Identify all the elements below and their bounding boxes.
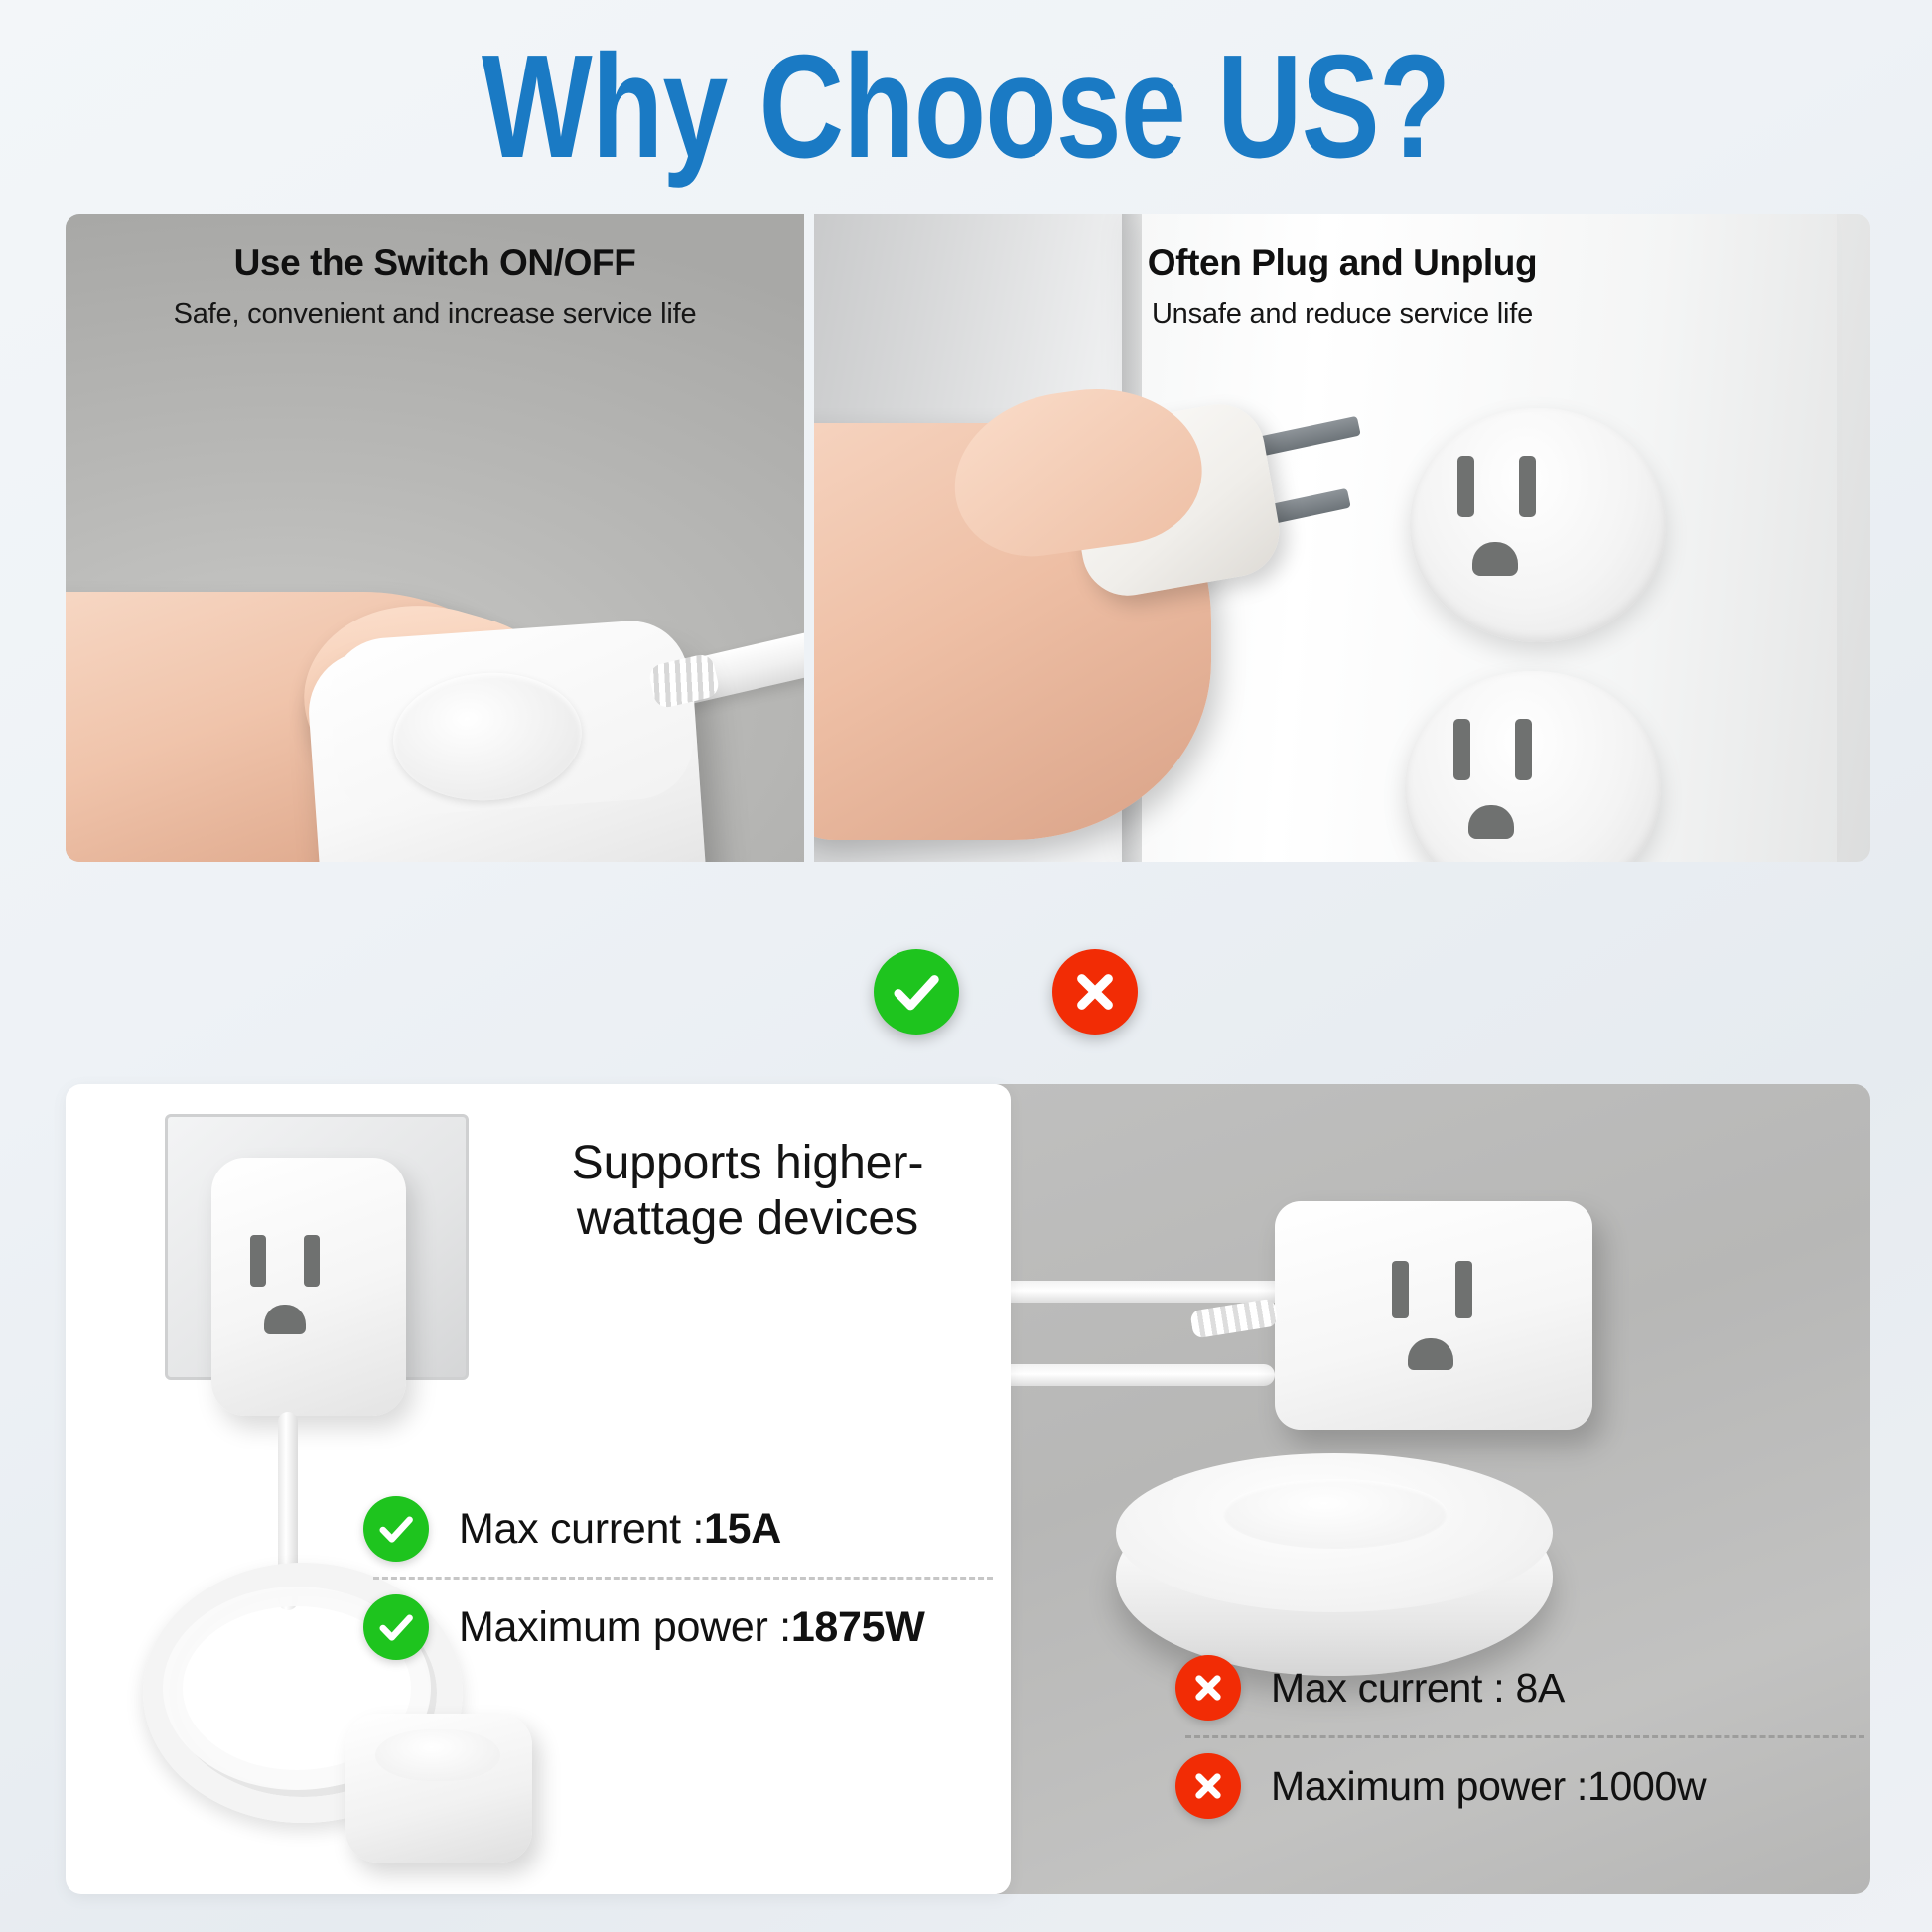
spec-list-left: Max current :15A Maximum power :1875W [363,1481,999,1675]
close-icon [1066,963,1124,1021]
cable-strain-relief-right [1189,1298,1278,1338]
close-icon [1186,1764,1230,1808]
adapter-slot-left [250,1235,266,1287]
infographic-page: Why Choose US? Use the Switch ON/OFF Saf… [0,0,1932,1932]
spec-row: Maximum power :1000w [1175,1738,1870,1834]
cable-lower [997,1364,1275,1386]
spec-row: Max current : 8A [1175,1640,1870,1735]
check-icon [374,1605,418,1649]
panel-right-header: Often Plug and Unplug Unsafe and reduce … [814,242,1870,331]
check-badge-left-panel [874,949,959,1035]
outlet-adapter-right [1275,1201,1592,1430]
x-badge-icon [1175,1753,1241,1819]
check-badge-icon [363,1496,429,1562]
spec-text: Max current :15A [459,1505,781,1554]
spec-label: Max current : [1271,1665,1515,1711]
spec-label: Maximum power : [459,1603,791,1651]
adapter-ground [264,1305,306,1334]
check-icon [374,1507,418,1551]
outlet-bottom-slot-right [1515,719,1532,780]
check-icon [888,963,945,1021]
panel-left-title: Use the Switch ON/OFF [66,242,804,284]
spec-text: Maximum power :1875W [459,1603,925,1652]
outlet-top-slot-right [1519,456,1536,517]
outlet-bottom-slot-left [1453,719,1470,780]
spec-value: 1875W [791,1603,925,1651]
cable-upper [997,1281,1295,1303]
x-badge-right-panel [1052,949,1138,1035]
supports-headline: Supports higher-wattage devices [514,1136,981,1246]
page-title-wrap: Why Choose US? [0,34,1932,181]
panel-right-subtitle: Unsafe and reduce service life [814,298,1870,331]
switch-device-bottom-left-button [375,1729,500,1781]
adapter-right-slot-right [1455,1261,1472,1318]
spec-text: Max current : 8A [1271,1665,1565,1712]
outlet-bottom-ground [1468,805,1514,839]
panel-right-title: Often Plug and Unplug [814,242,1870,284]
spec-row: Maximum power :1875W [363,1580,999,1675]
outlet-top-ground [1472,542,1518,576]
spec-value: 8A [1515,1665,1565,1711]
spec-value: 15A [704,1505,781,1553]
adapter-slot-right [304,1235,320,1287]
outlet-top-slot-left [1457,456,1474,517]
check-badge-icon [363,1594,429,1660]
panel-often-plug-unplug: Often Plug and Unplug Unsafe and reduce … [814,214,1870,862]
bottom-comparison-row: Supports higher-wattage devices Max curr… [66,1084,1870,1894]
spec-value: 1000w [1587,1763,1706,1809]
panel-supports-higher-wattage: Supports higher-wattage devices Max curr… [66,1084,1011,1894]
page-title: Why Choose US? [482,34,1449,181]
spec-list-right: Max current : 8A Maximum power :1000w [1175,1640,1870,1834]
panel-use-the-switch: Use the Switch ON/OFF Safe, convenient a… [66,214,804,862]
top-comparison-row: Use the Switch ON/OFF Safe, convenient a… [66,214,1870,862]
spec-row: Max current :15A [363,1481,999,1577]
panel-competitor-specs: Max current : 8A Maximum power :1000w [997,1084,1870,1894]
panel-left-header: Use the Switch ON/OFF Safe, convenient a… [66,242,804,331]
spec-text: Maximum power :1000w [1271,1763,1706,1810]
spec-label: Max current : [459,1505,704,1553]
round-switch-button [1223,1479,1448,1549]
spec-label: Maximum power : [1271,1763,1587,1809]
x-badge-icon [1175,1655,1241,1721]
adapter-right-slot-left [1392,1261,1409,1318]
panel-left-subtitle: Safe, convenient and increase service li… [66,298,804,331]
wall-outlet-top [1410,408,1666,642]
outlet-adapter-left [211,1158,406,1416]
close-icon [1186,1666,1230,1710]
